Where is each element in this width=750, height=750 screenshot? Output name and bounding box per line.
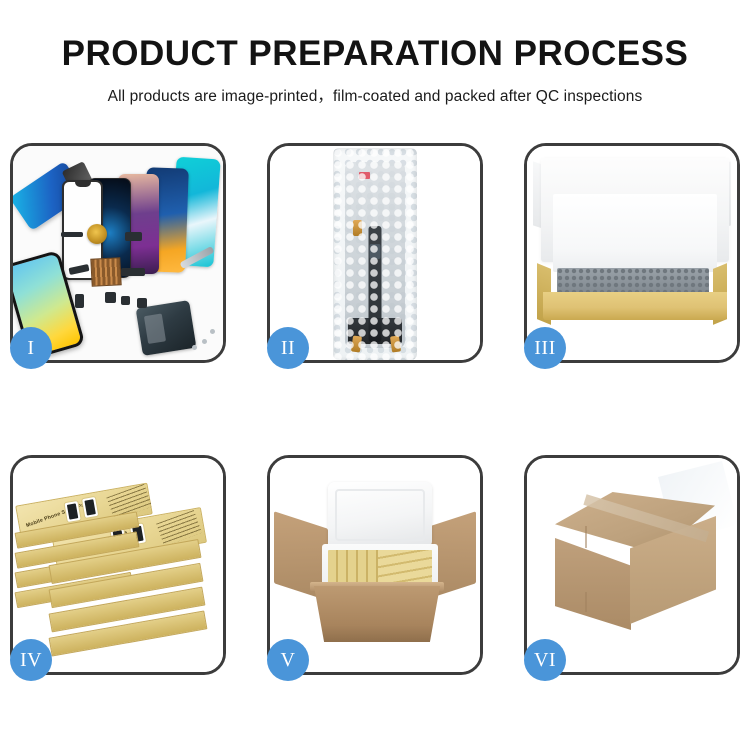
flex-cable-1 [61,232,83,237]
page-subtitle: All products are image-printed，film-coat… [0,74,750,106]
screw-1 [202,339,207,344]
foam-case-lid [328,482,432,548]
lcd-driver-chip [370,244,381,259]
small-part-1 [105,292,116,303]
process-step-card-2: II [267,143,483,363]
process-step-card-1: I [10,143,226,363]
step-badge-3: III [524,327,566,369]
flex-cable-3 [121,268,145,276]
page-title: PRODUCT PREPARATION PROCESS [0,0,750,74]
step-image-5 [270,458,480,672]
screw-2 [192,345,197,350]
process-step-card-6: VI [524,455,740,675]
step-badge-4: IV [10,639,52,681]
box-front-panel [543,292,727,320]
gold-connector [125,232,142,241]
step-image-6 [527,458,737,672]
bubble-wrap-sheet [333,148,417,360]
page-header: PRODUCT PREPARATION PROCESS All products… [0,0,750,106]
carton-with-foam-case-illustration [270,458,480,672]
process-step-card-5: V [267,455,483,675]
carton-body [314,586,440,642]
process-step-grid: I II [10,143,740,675]
process-step-card-4: Mobile Phone Spare Parts Mobile Phone Sp… [10,455,226,675]
stacked-retail-boxes-illustration: Mobile Phone Spare Parts Mobile Phone Sp… [13,458,223,672]
red-label-tab [359,172,370,179]
sealed-shipping-carton-illustration [527,458,737,672]
parts-and-screens-illustration [13,146,223,360]
small-part-2 [121,296,130,305]
carton-seam-top [585,526,587,548]
step-badge-2: II [267,327,309,369]
sim-tray [75,294,84,308]
speaker-component [87,224,107,244]
step-image-2 [270,146,480,360]
step-badge-6: VI [524,639,566,681]
screw-3 [210,329,215,334]
foam-lined-inner-box-illustration [527,146,737,360]
gold-contact-top [353,220,362,236]
step-image-3 [527,146,737,360]
step-image-1 [13,146,223,360]
small-part-3 [137,298,147,308]
bubble-wrapped-lcd-illustration [270,146,480,360]
step-badge-5: V [267,639,309,681]
step-badge-1: I [10,327,52,369]
gold-contact-right [351,335,362,352]
step-image-4: Mobile Phone Spare Parts Mobile Phone Sp… [13,458,223,672]
inner-kraft-boxes-row-2 [378,550,432,584]
white-foam-sheet [553,194,717,272]
process-step-card-3: III [524,143,740,363]
carton-seam-bottom [585,592,587,612]
phone-back-housing [136,300,197,356]
chip-array-component [90,257,121,287]
carton-left-face [555,538,631,630]
